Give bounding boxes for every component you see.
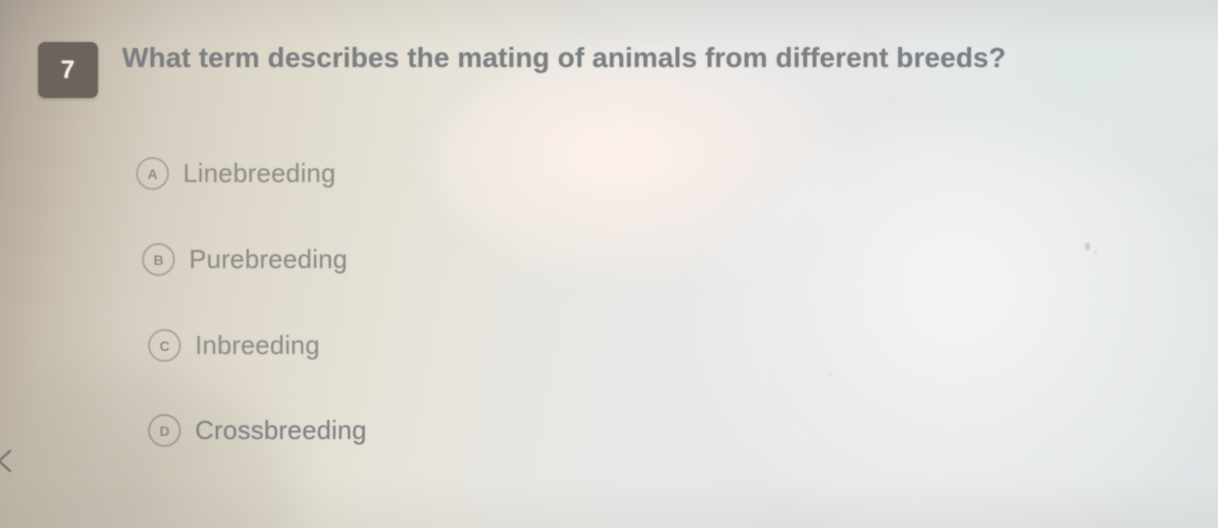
question-text: What term describes the mating of animal… [122,40,1122,75]
question-number-badge: 7 [38,42,98,98]
option-letter-b: B [153,253,163,267]
option-label-c: Inbreeding [195,330,320,361]
option-letter-d: D [159,424,169,438]
question-number-text: 7 [61,58,75,83]
option-letter-circle-b: B [142,243,175,276]
option-letter-circle-a: A [136,157,169,190]
option-letter-a: A [147,167,157,181]
option-label-a: Linebreeding [183,158,336,189]
option-letter-circle-c: C [148,329,181,362]
option-letter-c: C [159,339,169,353]
answer-option-d[interactable]: D Crossbreeding [148,414,367,447]
answer-option-a[interactable]: A Linebreeding [136,157,336,190]
answer-option-b[interactable]: B Purebreeding [142,243,348,276]
option-label-b: Purebreeding [189,244,348,275]
quiz-screen: 7 What term describes the mating of anim… [0,0,1218,528]
chevron-left-icon [0,446,20,476]
option-label-d: Crossbreeding [195,415,367,446]
quiz-content: 7 What term describes the mating of anim… [0,0,1218,528]
option-letter-circle-d: D [148,414,181,447]
back-button[interactable] [0,444,22,478]
answer-option-c[interactable]: C Inbreeding [148,329,320,362]
